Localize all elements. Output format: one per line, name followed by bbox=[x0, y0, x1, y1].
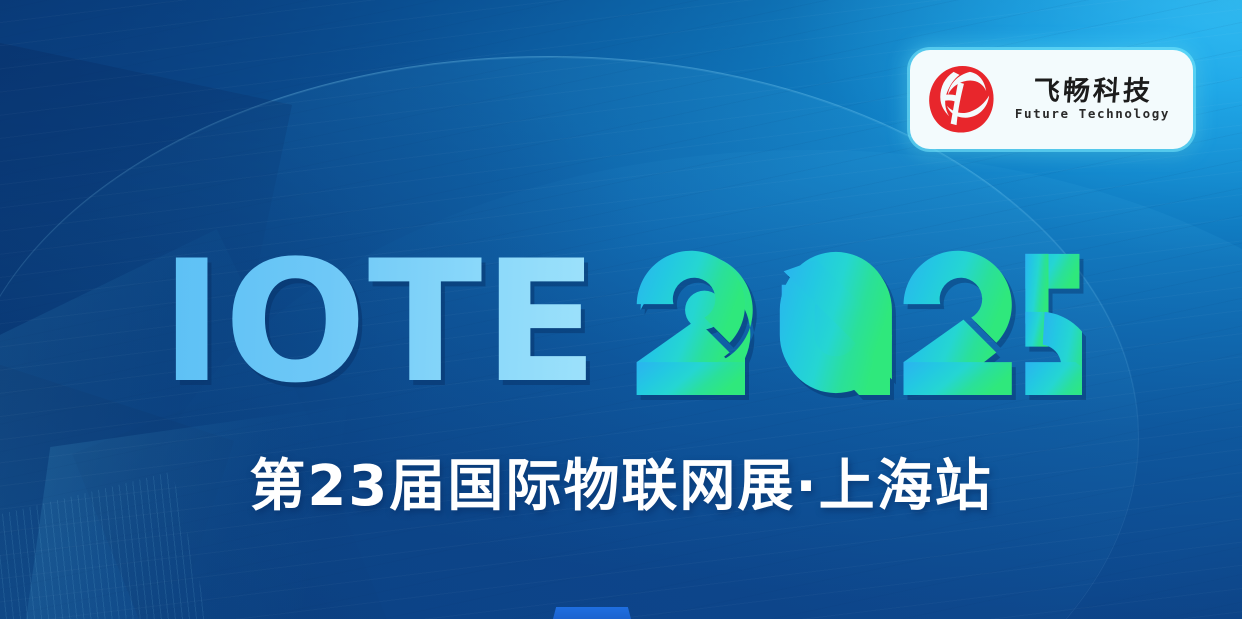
company-logo-text: 飞畅科技 Future Technology bbox=[1008, 78, 1177, 121]
event-subtitle: 第23届国际物联网展·上海站 bbox=[0, 455, 1242, 519]
company-name-en: Future Technology bbox=[1015, 108, 1170, 121]
event-headline: IOTE bbox=[0, 238, 1242, 406]
bottom-center-tab bbox=[553, 607, 631, 619]
fc-globe-mark-icon bbox=[924, 63, 998, 137]
iote-2025-banner: IOTE bbox=[0, 0, 1242, 619]
event-year-graphic bbox=[629, 250, 1081, 395]
event-name-text: IOTE bbox=[160, 224, 599, 420]
company-name-cn: 飞畅科技 bbox=[1032, 78, 1154, 105]
company-logo-card[interactable]: 飞畅科技 Future Technology bbox=[910, 50, 1193, 149]
